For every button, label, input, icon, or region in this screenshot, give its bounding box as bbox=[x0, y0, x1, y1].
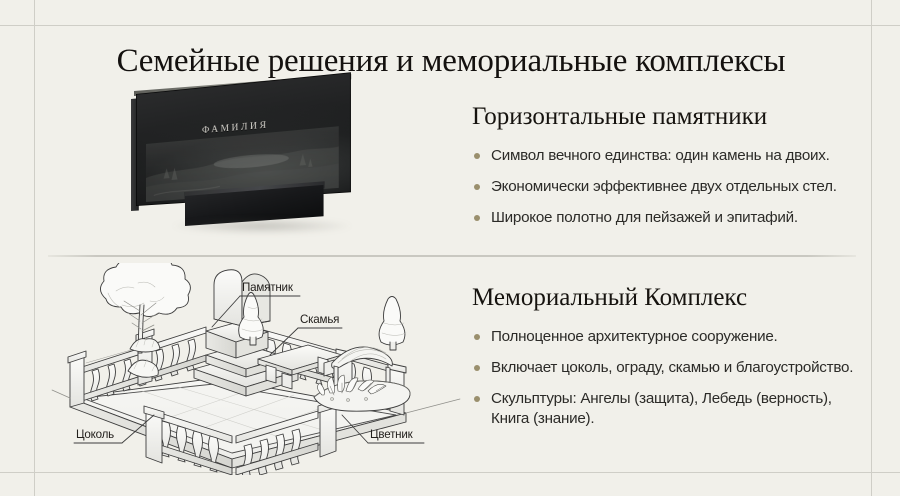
top-bullet-list: Символ вечного единства: один камень на … bbox=[472, 146, 864, 228]
label-text-skamya: Скамья bbox=[300, 313, 339, 326]
section-divider bbox=[48, 255, 856, 257]
memorial-complex-diagram: Памятник Скамья Цоколь bbox=[46, 263, 466, 475]
list-item: Экономически эффективнее двух отдельных … bbox=[472, 177, 864, 197]
label-text-tsokol: Цоколь bbox=[76, 428, 114, 441]
list-item: Включает цоколь, ограду, скамью и благоу… bbox=[472, 358, 864, 378]
monument-ground-shadow bbox=[172, 218, 352, 234]
top-section-heading: Горизонтальные памятники bbox=[472, 102, 864, 132]
bottom-text-column: Мемориальный Комплекс Полноценное архите… bbox=[472, 283, 864, 440]
frame-line-right bbox=[871, 0, 872, 496]
list-item: Символ вечного единства: один камень на … bbox=[472, 146, 864, 166]
list-item: Скульптуры: Ангелы (защита), Лебедь (вер… bbox=[472, 389, 864, 429]
top-text-column: Горизонтальные памятники Символ вечного … bbox=[472, 102, 864, 239]
label-text-pamyatnik: Памятник bbox=[242, 281, 294, 294]
bottom-section-heading: Мемориальный Комплекс bbox=[472, 283, 864, 313]
label-text-tsvetnik: Цветник bbox=[370, 428, 414, 441]
shrub-left bbox=[128, 359, 158, 377]
bottom-bullet-list: Полноценное архитектурное сооружение. Вк… bbox=[472, 327, 864, 429]
horizontal-monument-photo: ФАМИЛИЯ bbox=[110, 86, 410, 246]
list-item: Широкое полотно для пейзажей и эпитафий. bbox=[472, 208, 864, 228]
frame-line-top bbox=[0, 25, 900, 26]
list-item: Полноценное архитектурное сооружение. bbox=[472, 327, 864, 347]
slide-canvas: Семейные решения и мемориальные комплекс… bbox=[0, 0, 900, 496]
conifer-right bbox=[379, 297, 406, 351]
frame-line-left bbox=[34, 0, 35, 496]
slide-title: Семейные решения и мемориальные комплекс… bbox=[48, 41, 854, 81]
